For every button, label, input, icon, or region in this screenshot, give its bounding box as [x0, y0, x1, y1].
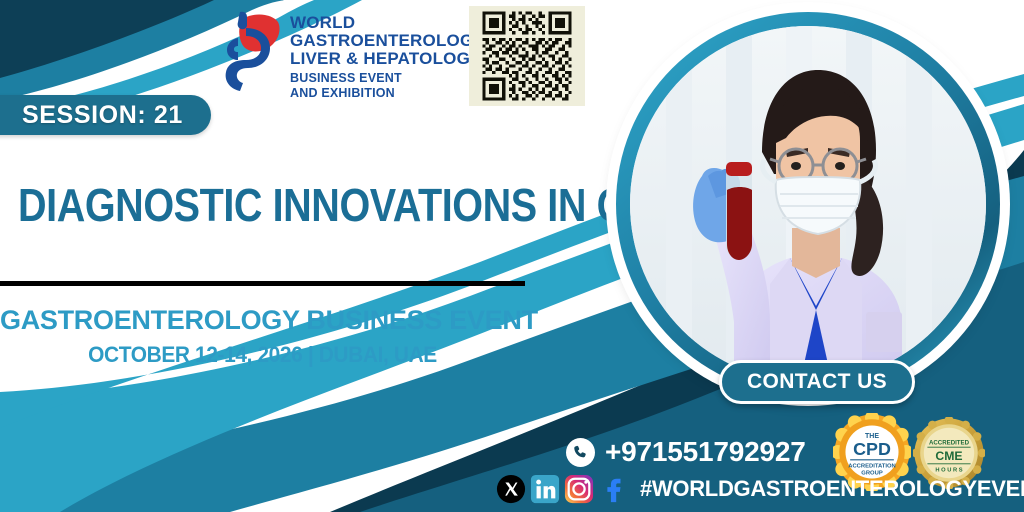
phone-icon	[566, 438, 595, 467]
conference-session-banner: WORLD GASTROENTEROLOGY LIVER & HEPATOLOG…	[0, 0, 1024, 512]
cme-badge-sub-text: H O U R S	[935, 468, 962, 474]
facebook-icon[interactable]	[598, 474, 628, 504]
event-hashtag: #WORLDGASTROENTEROLOGYEVENT	[640, 476, 1024, 502]
logo-line-2: GASTROENTEROLOGY	[290, 32, 485, 50]
session-badge-label: SESSION: 21	[22, 101, 183, 130]
x-twitter-icon[interactable]	[496, 474, 526, 504]
logo-line-3: LIVER & HEPATOLOGY	[290, 50, 485, 68]
event-name: GASTROENTEROLOGY BUSINESS EVENT	[0, 305, 525, 336]
cme-badge-top-text: ACCREDITED	[929, 439, 970, 446]
speaker-photo-frame	[612, 8, 1004, 400]
linkedin-icon[interactable]	[530, 474, 560, 504]
event-logo: WORLD GASTROENTEROLOGY LIVER & HEPATOLOG…	[216, 8, 485, 101]
cpd-badge-main-text: CPD	[853, 439, 891, 459]
social-links: #WORLDGASTROENTEROLOGYEVENT	[496, 474, 1024, 504]
event-date-location: OCTOBER 12-14, 2026 | DUBAI, UAE	[13, 342, 512, 368]
cpd-badge-sub-text: ACCREDITATION	[848, 464, 896, 470]
contact-us-label: CONTACT US	[747, 370, 887, 394]
title-divider	[0, 281, 525, 286]
phone-handset-glyph	[572, 444, 589, 461]
logo-line-1: WORLD	[290, 14, 485, 32]
logo-sub-2: AND EXHIBITION	[290, 86, 485, 101]
lab-technician-illustration	[630, 26, 986, 382]
session-number-badge: SESSION: 21	[0, 95, 211, 135]
photo-ring	[616, 12, 1000, 396]
logo-sub-1: BUSINESS EVENT	[290, 71, 485, 86]
session-title: DIAGNOSTIC INNOVATIONS IN GI	[18, 178, 637, 232]
qr-code-icon[interactable]	[469, 6, 585, 106]
phone-number: +971551792927	[605, 436, 806, 468]
contact-us-button[interactable]: CONTACT US	[719, 360, 915, 404]
instagram-icon[interactable]	[564, 474, 594, 504]
phone-contact[interactable]: +971551792927	[566, 436, 806, 468]
lab-technician-photo	[630, 26, 986, 382]
cme-badge-main-text: CME	[935, 449, 962, 463]
stomach-liver-logo-icon	[216, 8, 282, 96]
logo-wordmark: WORLD GASTROENTEROLOGY LIVER & HEPATOLOG…	[290, 8, 485, 101]
qr-code-matrix	[471, 8, 583, 104]
